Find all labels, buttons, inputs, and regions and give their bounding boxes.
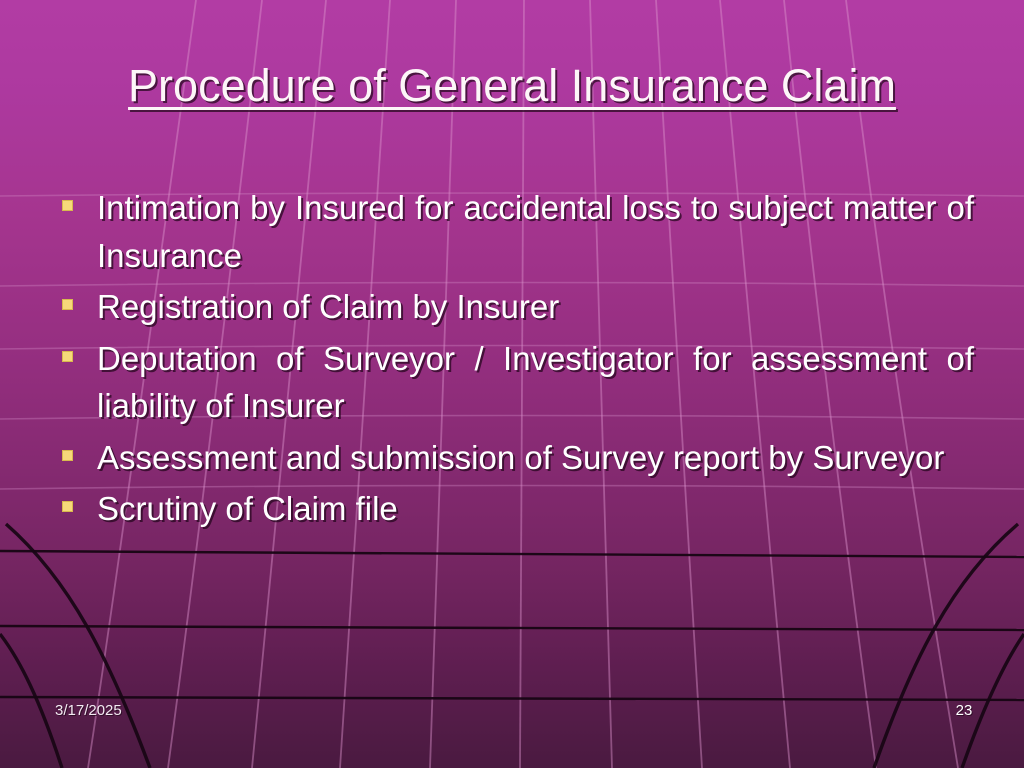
- list-item: Scrutiny of Claim file: [62, 485, 974, 533]
- square-bullet-icon: [62, 501, 73, 512]
- slide-title-text: Procedure of General Insurance Claim: [128, 62, 896, 111]
- list-item: Intimation by Insured for accidental los…: [62, 184, 974, 279]
- square-bullet-icon: [62, 351, 73, 362]
- slide-title: Procedure of General Insurance Claim: [0, 62, 1024, 111]
- list-item: Registration of Claim by Insurer: [62, 283, 974, 331]
- list-item: Assessment and submission of Survey repo…: [62, 434, 974, 482]
- list-item-text: Scrutiny of Claim file: [97, 485, 974, 533]
- list-item-text: Intimation by Insured for accidental los…: [97, 184, 974, 279]
- square-bullet-icon: [62, 299, 73, 310]
- list-item-text: Registration of Claim by Insurer: [97, 283, 974, 331]
- square-bullet-icon: [62, 200, 73, 211]
- list-item-text: Assessment and submission of Survey repo…: [97, 434, 974, 482]
- list-item-text: Deputation of Surveyor / Investigator fo…: [97, 335, 974, 430]
- list-item: Deputation of Surveyor / Investigator fo…: [62, 335, 974, 430]
- footer-date: 3/17/2025: [55, 702, 122, 719]
- square-bullet-icon: [62, 450, 73, 461]
- slide-canvas: Procedure of General Insurance Claim Int…: [0, 0, 1024, 768]
- footer-page-number: 23: [934, 702, 994, 719]
- bullet-list: Intimation by Insured for accidental los…: [62, 184, 974, 537]
